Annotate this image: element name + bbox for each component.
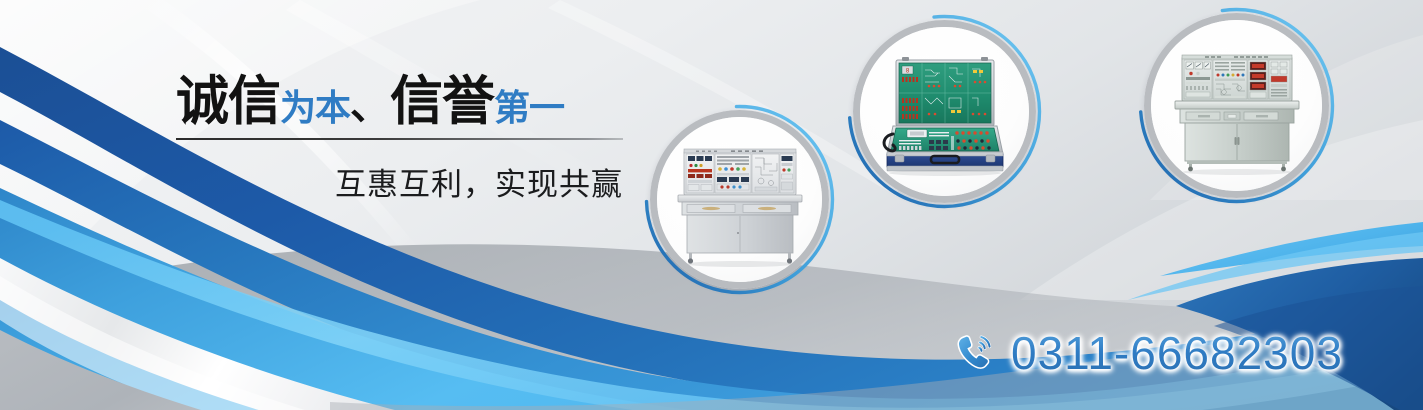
subtitle: 互惠互利，实现共赢: [176, 159, 623, 204]
slogan-block: 诚信 为本 、 信誉 第一 互惠互利，实现共赢: [176, 72, 628, 204]
phone-number[interactable]: 0311-66682303: [1011, 326, 1343, 380]
headline-segment-1: 诚信: [176, 75, 280, 128]
headline-segment-4: 信誉: [390, 75, 494, 128]
product-image-1: [657, 117, 822, 282]
phone-icon: [953, 331, 997, 375]
product-circle-2[interactable]: 8: [853, 20, 1036, 203]
product-image-2: 8: [860, 27, 1029, 196]
product-circle-1[interactable]: [650, 110, 829, 289]
contact-phone-block[interactable]: 0311-66682303: [953, 326, 1343, 380]
headline-divider: [176, 138, 623, 140]
headline-separator: 、: [350, 86, 390, 126]
headline-segment-5: 第一: [494, 90, 564, 126]
headline-segment-2: 为本: [280, 90, 350, 126]
svg-text:8: 8: [905, 67, 909, 74]
product-image-3: [1151, 20, 1322, 191]
promotional-banner: 诚信 为本 、 信誉 第一 互惠互利，实现共赢: [0, 0, 1423, 410]
product-circle-3[interactable]: [1144, 13, 1329, 198]
headline: 诚信 为本 、 信誉 第一: [176, 72, 628, 128]
